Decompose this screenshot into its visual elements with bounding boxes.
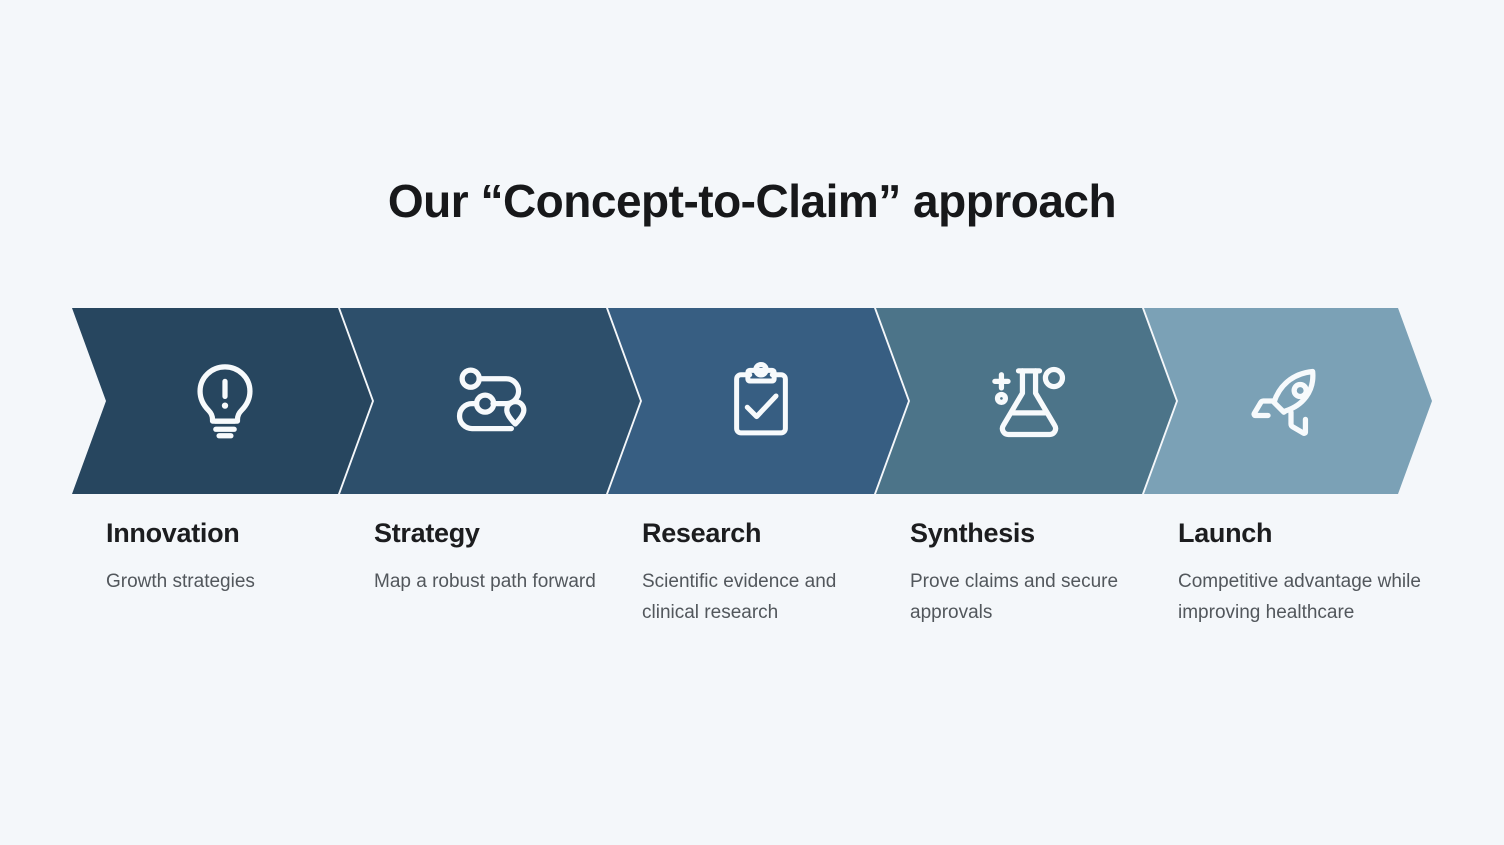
- route-path-pin-icon: [447, 355, 539, 447]
- clipboard-check-icon: [715, 355, 807, 447]
- flow-step-research[interactable]: [608, 308, 908, 494]
- caption-description: Prove claims and secure approvals: [910, 567, 1120, 629]
- caption-description: Competitive advantage while improving he…: [1178, 567, 1428, 629]
- caption-title: Strategy: [374, 518, 604, 549]
- flask-chemistry-icon: [983, 355, 1075, 447]
- flow-step-synthesis[interactable]: [876, 308, 1176, 494]
- caption-innovation: Innovation Growth strategies: [106, 518, 346, 598]
- page-title: Our “Concept-to-Claim” approach: [0, 176, 1504, 227]
- caption-strategy: Strategy Map a robust path forward: [374, 518, 604, 598]
- caption-description: Map a robust path forward: [374, 567, 604, 598]
- caption-description: Scientific evidence and clinical researc…: [642, 567, 892, 629]
- caption-title: Synthesis: [910, 518, 1120, 549]
- caption-title: Research: [642, 518, 892, 549]
- caption-research: Research Scientific evidence and clinica…: [642, 518, 892, 629]
- caption-title: Innovation: [106, 518, 346, 549]
- rocket-launch-icon: [1245, 355, 1337, 447]
- caption-synthesis: Synthesis Prove claims and secure approv…: [910, 518, 1120, 629]
- caption-title: Launch: [1178, 518, 1428, 549]
- flow-step-innovation[interactable]: [72, 308, 372, 494]
- flow-captions: Innovation Growth strategies Strategy Ma…: [72, 518, 1472, 698]
- flow-step-launch[interactable]: [1144, 308, 1432, 494]
- caption-description: Growth strategies: [106, 567, 346, 598]
- process-flow-diagram: [72, 308, 1432, 494]
- lightbulb-idea-icon: [179, 355, 271, 447]
- caption-launch: Launch Competitive advantage while impro…: [1178, 518, 1428, 629]
- flow-step-strategy[interactable]: [340, 308, 640, 494]
